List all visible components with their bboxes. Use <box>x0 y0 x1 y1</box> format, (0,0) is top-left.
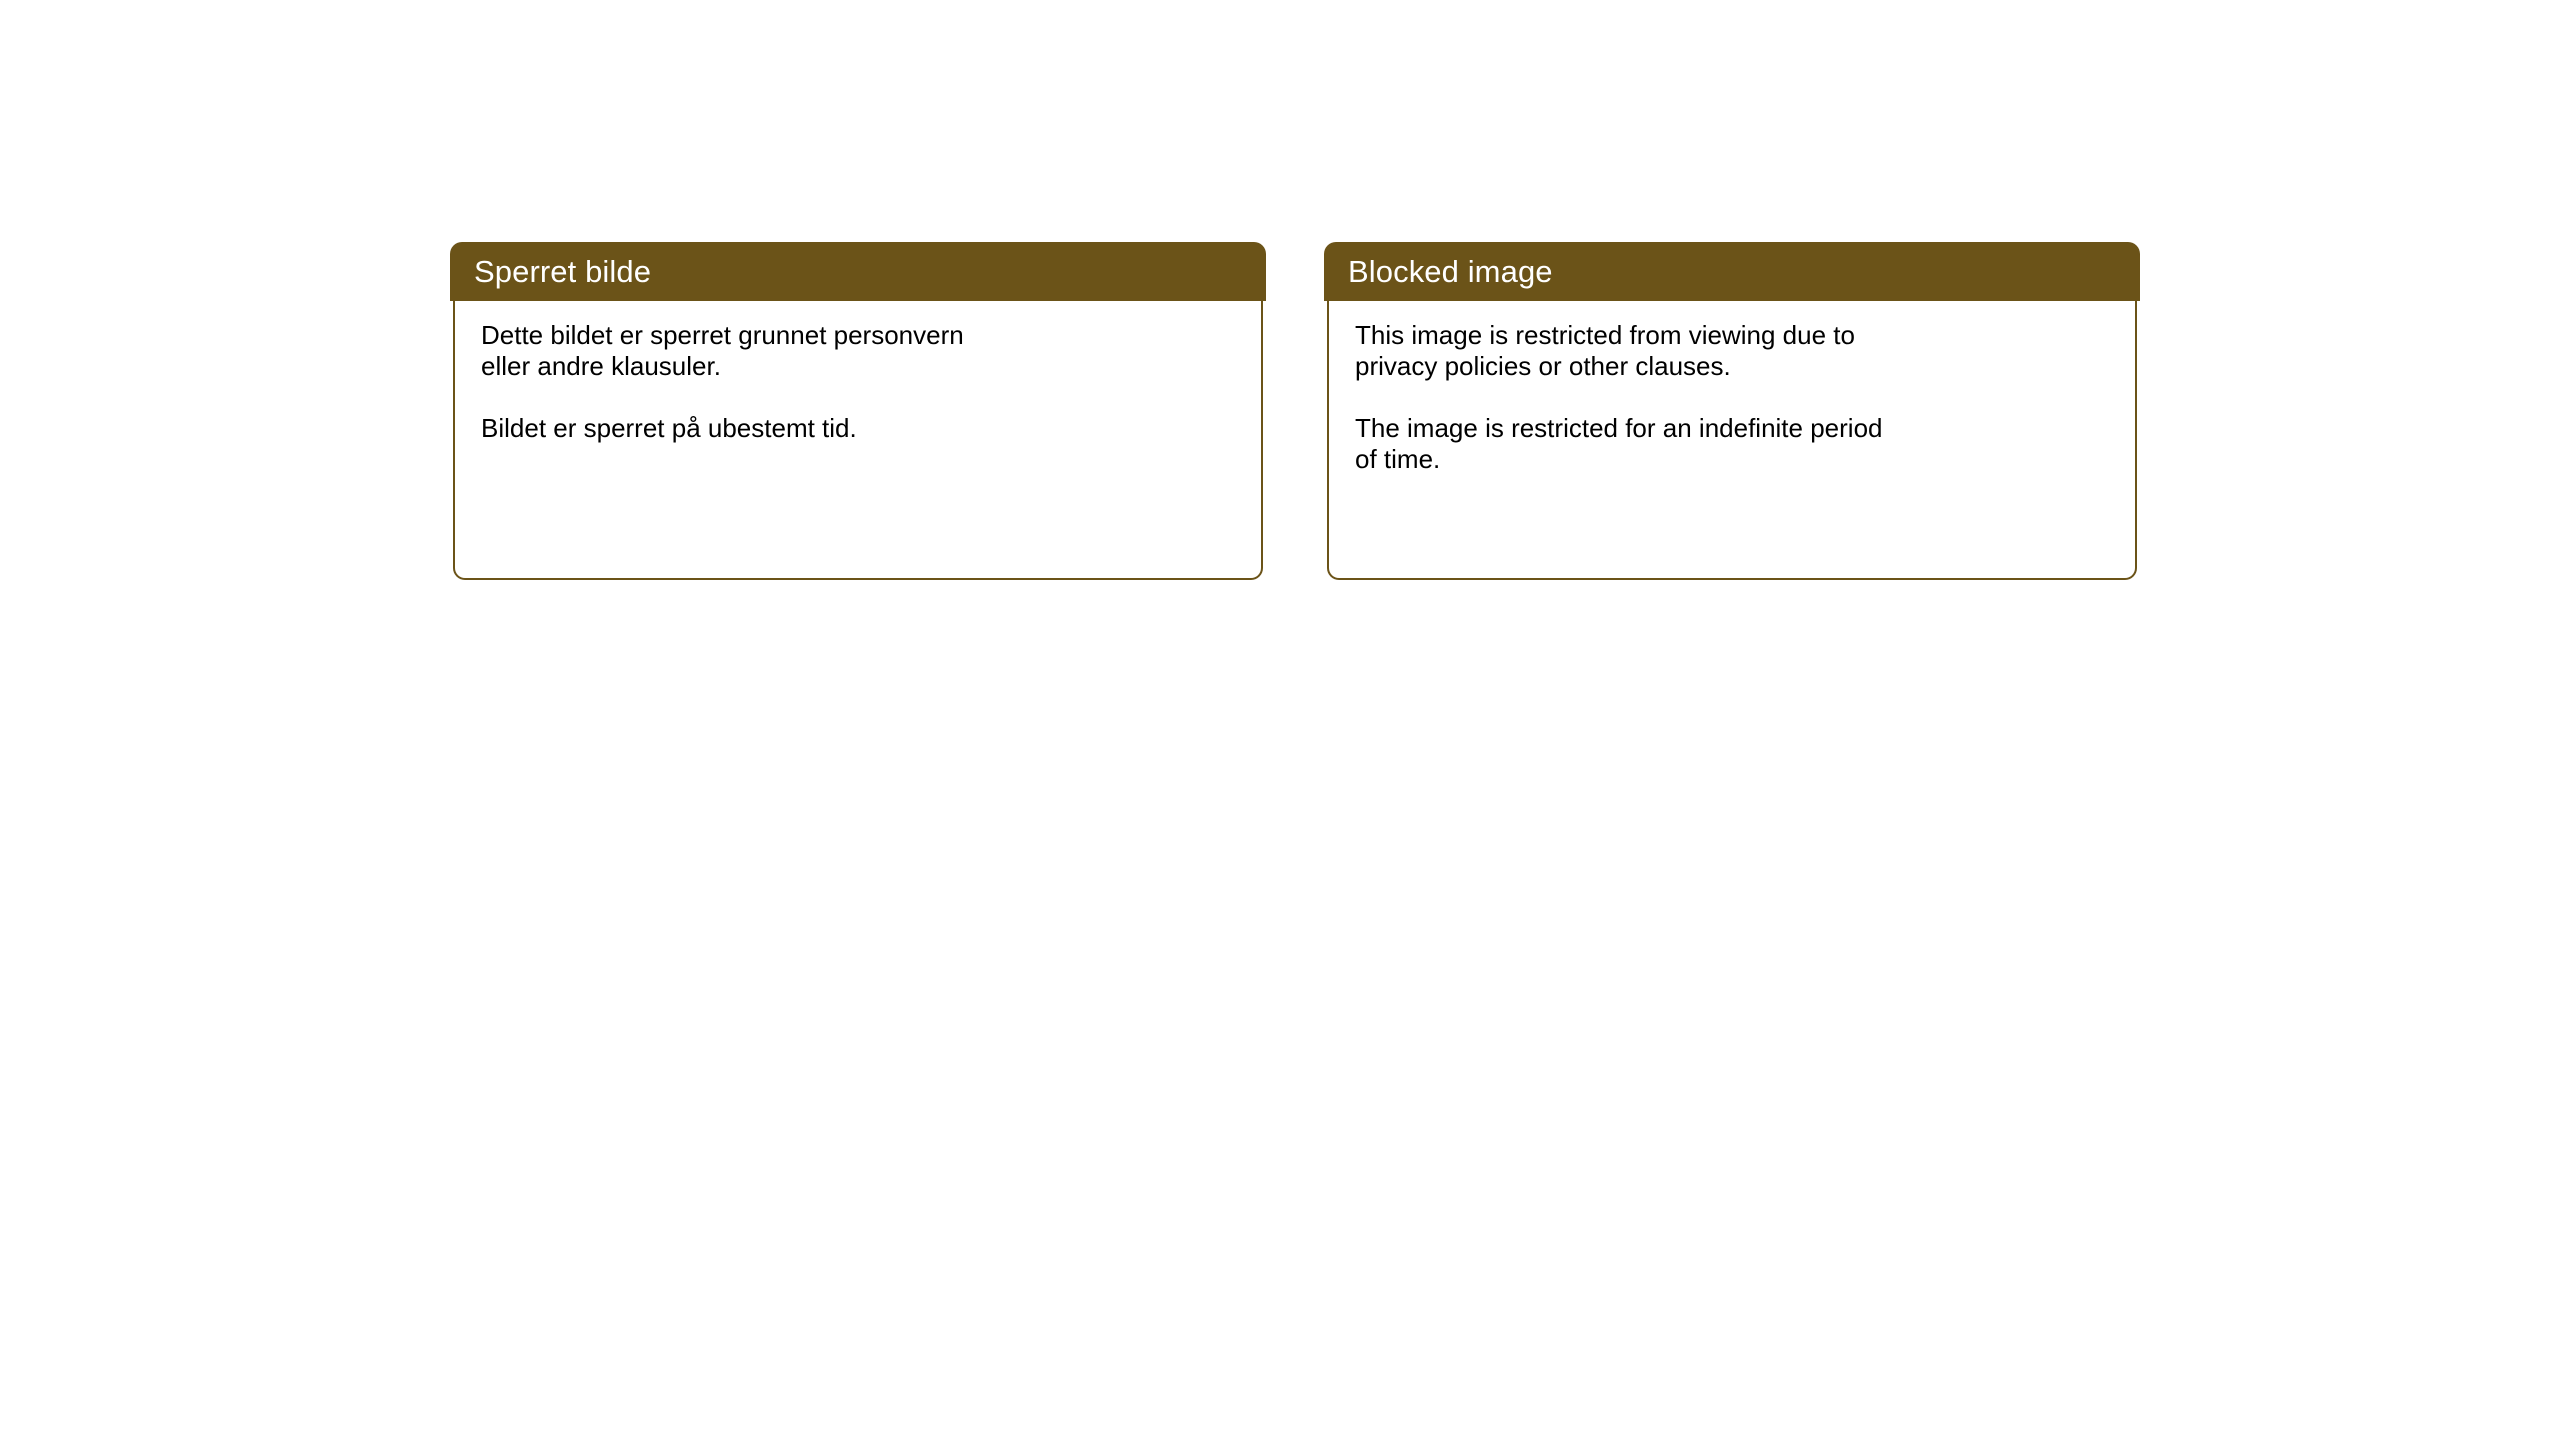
panel-body-english: This image is restricted from viewing du… <box>1327 294 2137 580</box>
blocked-image-panel-english: Blocked image This image is restricted f… <box>1324 242 2140 580</box>
panel-title-english: Blocked image <box>1324 256 1553 287</box>
panel-header-norwegian: Sperret bilde <box>450 242 1266 301</box>
panel-paragraph-reason-english: This image is restricted from viewing du… <box>1355 320 2109 383</box>
panel-title-norwegian: Sperret bilde <box>450 256 651 287</box>
panel-paragraph-reason-norwegian: Dette bildet er sperret grunnet personve… <box>481 320 1235 383</box>
panel-paragraph-duration-norwegian: Bildet er sperret på ubestemt tid. <box>481 413 1235 444</box>
page-root: Sperret bilde Dette bildet er sperret gr… <box>0 0 2560 1440</box>
panel-header-english: Blocked image <box>1324 242 2140 301</box>
panel-body-norwegian: Dette bildet er sperret grunnet personve… <box>453 294 1263 580</box>
blocked-image-panel-norwegian: Sperret bilde Dette bildet er sperret gr… <box>450 242 1266 580</box>
panel-paragraph-duration-english: The image is restricted for an indefinit… <box>1355 413 2109 476</box>
